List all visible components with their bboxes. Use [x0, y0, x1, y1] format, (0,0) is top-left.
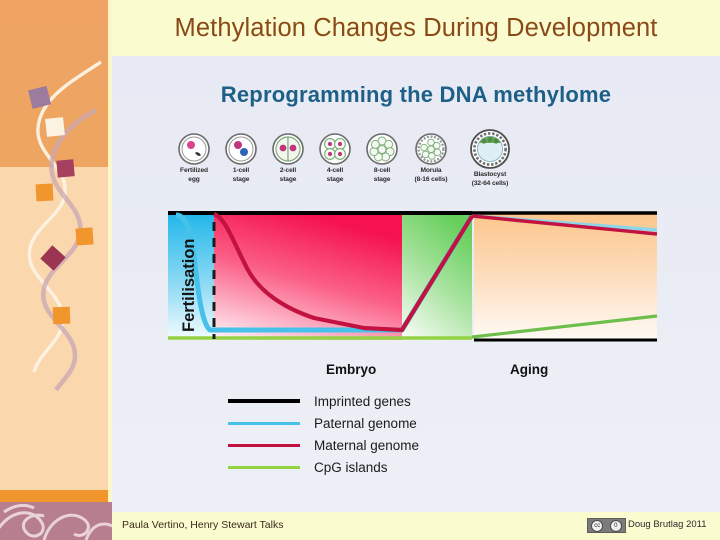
stage-label: 1-cell	[219, 167, 263, 175]
chart-legend: Imprinted genes Paternal genome Maternal…	[228, 390, 419, 478]
stage-label: Morula	[405, 167, 457, 175]
axis-label-aging: Aging	[510, 362, 548, 377]
figure-panel: Reprogramming the DNA methylome Fertiliz…	[112, 56, 720, 512]
stage-label: Fertilized	[172, 167, 216, 175]
decorative-sidebar	[0, 0, 112, 540]
footer-source: Paula Vertino, Henry Stewart Talks	[122, 519, 283, 531]
legend-item-imprinted-genes: Imprinted genes	[228, 390, 419, 412]
four-cell-stage-icon	[318, 132, 352, 166]
eight-cell-stage-icon	[365, 132, 399, 166]
figure-title: Reprogramming the DNA methylome	[112, 82, 720, 108]
legend-swatch	[228, 422, 300, 425]
legend-label: Paternal genome	[314, 416, 417, 431]
legend-swatch	[228, 444, 300, 447]
axis-label-embryo: Embryo	[326, 362, 376, 377]
morula-icon	[414, 132, 448, 166]
two-cell-stage-icon	[271, 132, 305, 166]
legend-swatch	[228, 466, 300, 469]
embryo-stage-strip: Fertilized egg 1-cell stage	[172, 132, 502, 200]
band-demethylation	[214, 212, 402, 340]
methylation-chart: Fertilisation	[164, 204, 661, 352]
one-cell-stage-icon	[224, 132, 258, 166]
legend-item-paternal-genome: Paternal genome	[228, 412, 419, 434]
blastocyst-icon	[469, 128, 511, 170]
fertilized-egg-icon	[177, 132, 211, 166]
dna-curve-decoration	[0, 0, 112, 502]
page-title: Methylation Changes During Development	[112, 0, 720, 56]
cc-zero-icon: 0	[610, 520, 622, 532]
stage-label: stage	[219, 176, 263, 184]
fertilisation-label: Fertilisation	[180, 238, 198, 332]
stage-label: (32-64 cells)	[459, 180, 521, 188]
legend-label: Imprinted genes	[314, 394, 411, 409]
stage-label: stage	[360, 176, 404, 184]
stage-label: 4-cell	[313, 167, 357, 175]
stage-label: 2-cell	[266, 167, 310, 175]
stage-label: stage	[313, 176, 357, 184]
stage-label: egg	[172, 176, 216, 184]
stage-blastocyst: Blastocyst (32-64 cells)	[459, 128, 521, 188]
stage-morula: Morula (8-16 cells)	[405, 132, 457, 184]
slide: Methylation Changes During Development R…	[0, 0, 720, 540]
footer-credit: Doug Brutlag 2011	[628, 519, 707, 530]
legend-label: CpG islands	[314, 460, 388, 475]
sidebar-paisley-panel	[0, 502, 112, 540]
stage-label: stage	[266, 176, 310, 184]
sidebar-accent-bar	[0, 490, 112, 502]
stage-label: (8-16 cells)	[405, 176, 457, 184]
stage-4-cell: 4-cell stage	[313, 132, 357, 184]
cc-icon: cc	[591, 520, 603, 532]
legend-item-maternal-genome: Maternal genome	[228, 434, 419, 456]
legend-swatch	[228, 399, 300, 403]
legend-label: Maternal genome	[314, 438, 419, 453]
stage-fertilized-egg: Fertilized egg	[172, 132, 216, 184]
stage-2-cell: 2-cell stage	[266, 132, 310, 184]
stage-1-cell: 1-cell stage	[219, 132, 263, 184]
stage-label: 8-cell	[360, 167, 404, 175]
creative-commons-badge: cc 0	[587, 518, 626, 533]
legend-item-cpg-islands: CpG islands	[228, 456, 419, 478]
stage-8-cell: 8-cell stage	[360, 132, 404, 184]
stage-label: Blastocyst	[459, 171, 521, 179]
